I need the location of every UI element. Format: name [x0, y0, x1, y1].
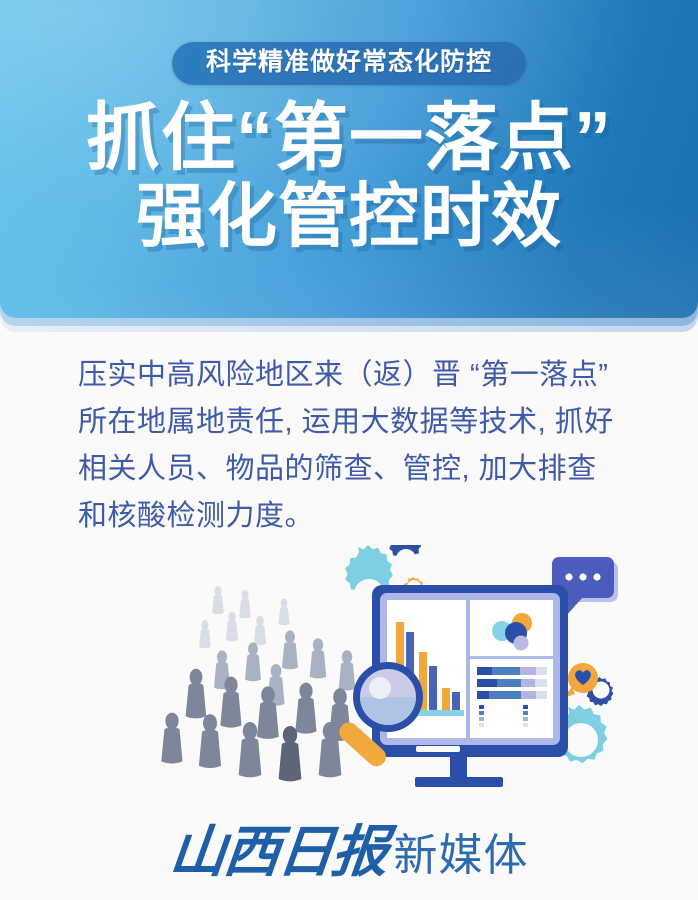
- monitor-logo-strip: [416, 746, 460, 752]
- magnifier-glint: [369, 677, 391, 699]
- footer-logo: 山西日报 新媒体: [170, 825, 529, 881]
- bar-5: [442, 688, 450, 710]
- chat-dot-3: [593, 573, 600, 580]
- footer: 山西日报 新媒体: [0, 805, 698, 900]
- page-title-line-2: 强化管控时效: [0, 181, 698, 252]
- chat-dot-2: [579, 573, 586, 580]
- illustration: [0, 545, 698, 810]
- header-panel: 科学精准做好常态化防控 抓住“第一落点” 强化管控时效: [0, 0, 698, 318]
- crowd-silhouettes-far: [199, 586, 289, 648]
- bar-4: [429, 666, 437, 710]
- publisher-name: 山西日报: [167, 825, 389, 881]
- poster-header: 科学精准做好常态化防控 抓住“第一落点” 强化管控时效: [0, 0, 698, 340]
- body-paragraph: 压实中高风险地区来（返）晋 “第一落点” 所在地属地责任, 运用大数据等技术, …: [78, 352, 626, 540]
- header-badge-label: 科学精准做好常态化防控: [206, 50, 492, 75]
- chat-dot-1: [565, 573, 572, 580]
- progress-row: [477, 667, 547, 675]
- page-title-line-1: 抓住“第一落点”: [0, 100, 698, 175]
- progress-row: [477, 691, 547, 699]
- crowd-silhouettes-near: [161, 669, 350, 782]
- body-copy: 压实中高风险地区来（返）晋 “第一落点” 所在地属地责任, 运用大数据等技术, …: [78, 352, 626, 540]
- header-badge: 科学精准做好常态化防控: [172, 42, 526, 85]
- publisher-subbrand: 新媒体: [394, 834, 529, 881]
- poster-root: 科学精准做好常态化防控 抓住“第一落点” 强化管控时效 压实中高风险地区来（返）…: [0, 0, 698, 900]
- progress-row: [477, 679, 547, 687]
- monitor-stand-base: [415, 777, 503, 787]
- header-title-block: 抓住“第一落点” 强化管控时效: [0, 100, 698, 253]
- bubble-lavender: [514, 636, 529, 651]
- illustration-svg: [0, 545, 698, 810]
- gear-dark-small-top: [389, 545, 421, 569]
- bar-6: [452, 692, 460, 710]
